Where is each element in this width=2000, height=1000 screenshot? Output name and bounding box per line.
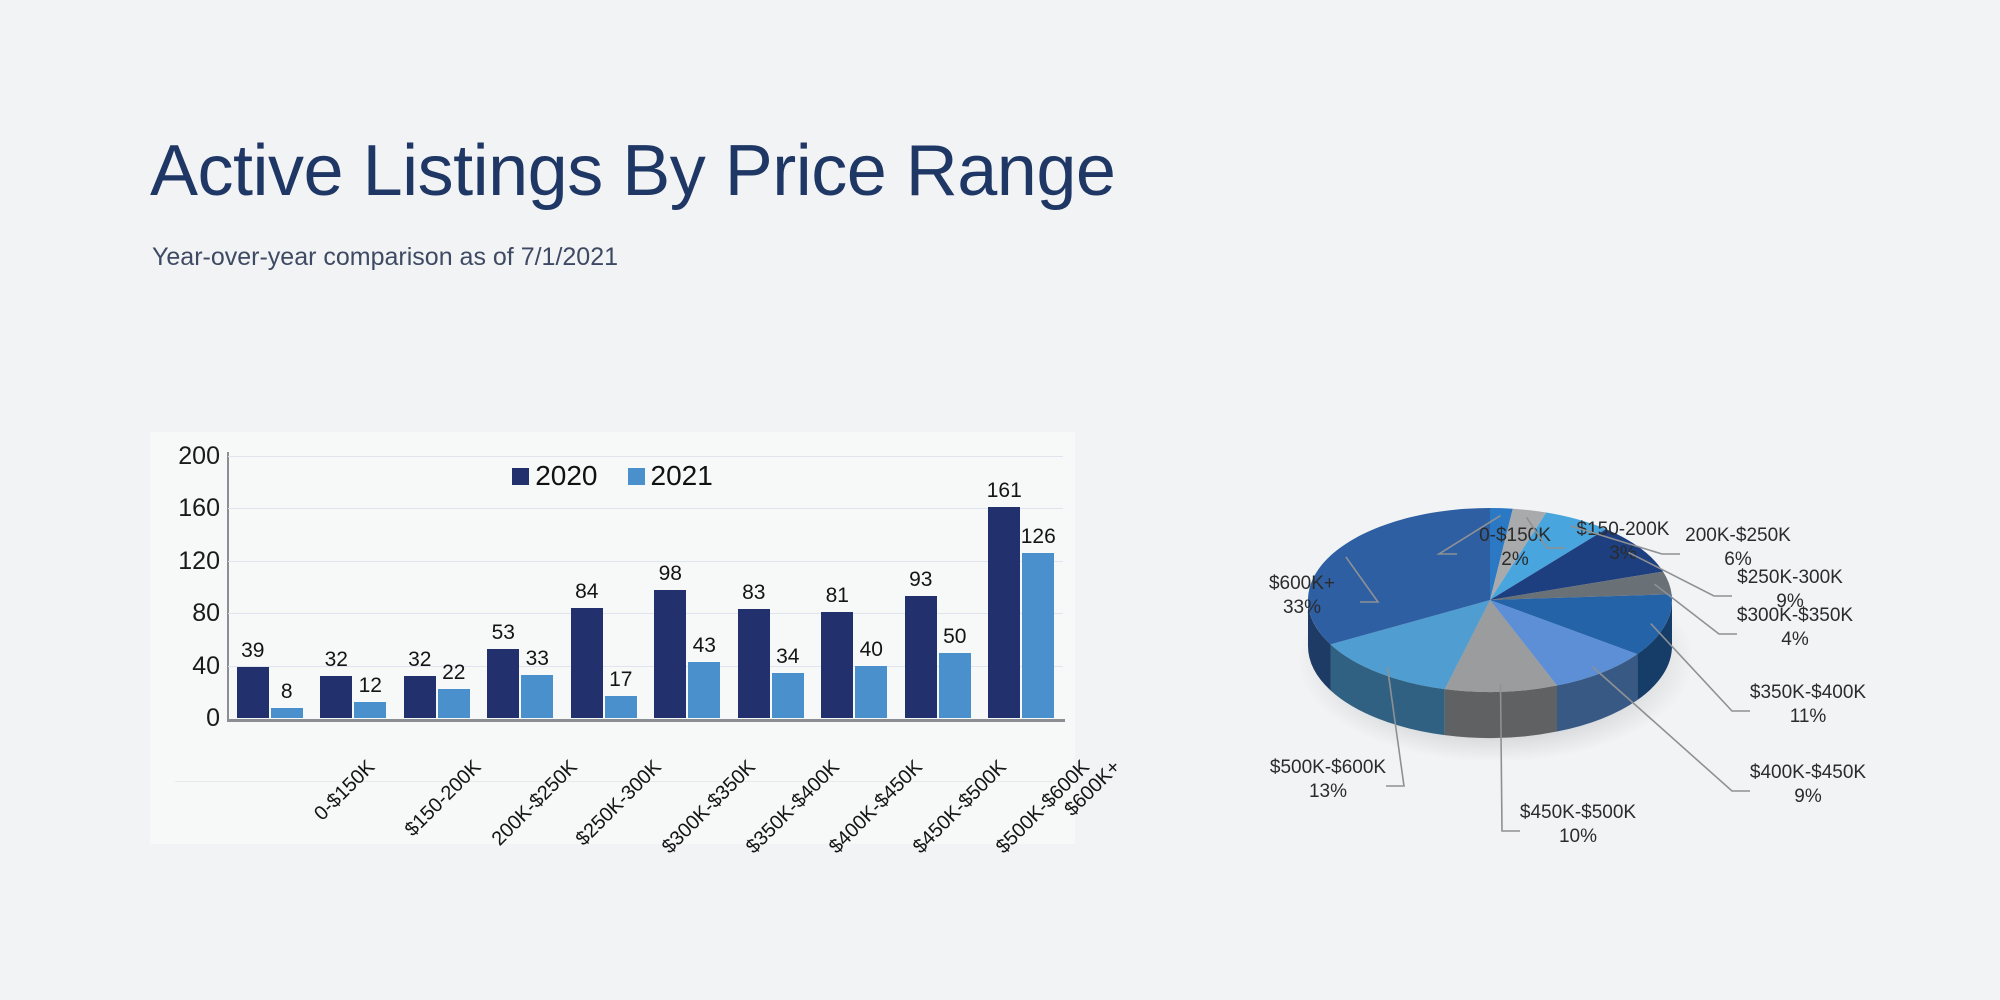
bar-2021[interactable]: 50 — [939, 653, 971, 719]
bar-value-label: 93 — [909, 568, 932, 592]
pie-label-name: 200K-$250K — [1685, 525, 1791, 546]
pie-label-name: $600K+ — [1269, 573, 1335, 594]
pie-slice-side — [1445, 686, 1557, 738]
pie-label-percent: 2% — [1479, 548, 1551, 572]
bar-value-label: 126 — [1021, 525, 1056, 549]
page-subtitle: Year-over-year comparison as of 7/1/2021 — [152, 243, 618, 272]
pie-label-percent: 3% — [1577, 542, 1670, 566]
bar-group: 398 — [228, 456, 312, 718]
pie-label-name: $500K-$600K — [1270, 757, 1386, 778]
bar-column[interactable]: 50 — [939, 456, 971, 718]
bar-column[interactable]: 81 — [821, 456, 853, 718]
bar-y-axis-ticks: 04080120160200 — [150, 456, 220, 718]
legend-item-2021[interactable]: 2021 — [628, 460, 713, 492]
legend-swatch-icon — [628, 468, 645, 485]
bar-column[interactable]: 32 — [404, 456, 436, 718]
bar-column[interactable]: 53 — [487, 456, 519, 718]
bar-plot-area: 3980-$150K3212$150-200K3222200K-$250K533… — [228, 456, 1063, 718]
bar-group: 3222 — [395, 456, 479, 718]
bar-group: 9843 — [646, 456, 730, 718]
bar-column[interactable]: 12 — [354, 456, 386, 718]
bar-2020[interactable]: 32 — [404, 676, 436, 718]
pie-label-name: $250K-300K — [1737, 567, 1843, 588]
bar-column[interactable]: 98 — [654, 456, 686, 718]
bar-2021[interactable]: 22 — [438, 689, 470, 718]
bar-value-label: 40 — [860, 638, 883, 662]
pie-label-percent: 10% — [1520, 825, 1636, 849]
pie-slice-label: 0-$150K2% — [1479, 524, 1551, 572]
bar-column[interactable]: 126 — [1022, 456, 1054, 718]
bar-2021[interactable]: 43 — [688, 662, 720, 718]
bar-2020[interactable]: 98 — [654, 590, 686, 718]
bar-chart-legend: 20202021 — [150, 460, 1075, 492]
bar-group: 8334 — [729, 456, 813, 718]
bar-column[interactable]: 22 — [438, 456, 470, 718]
legend-item-2020[interactable]: 2020 — [512, 460, 597, 492]
bar-value-label: 50 — [943, 625, 966, 649]
pie-label-name: $150-200K — [1577, 519, 1670, 540]
bar-group: 5333 — [479, 456, 563, 718]
pie-slice-label: $300K-$350K4% — [1737, 604, 1853, 652]
bar-2020[interactable]: 161 — [988, 507, 1020, 718]
bar-x-axis-line — [227, 719, 1065, 722]
pie-label-percent: 33% — [1269, 596, 1335, 620]
bar-column[interactable]: 40 — [855, 456, 887, 718]
pie-label-percent: 9% — [1750, 785, 1866, 809]
bar-value-label: 32 — [408, 648, 431, 672]
bar-value-label: 12 — [359, 674, 382, 698]
bar-y-tick: 0 — [160, 704, 220, 733]
pie-label-name: $400K-$450K — [1750, 762, 1866, 783]
bar-group: 8140 — [813, 456, 897, 718]
pie-label-name: $450K-$500K — [1520, 802, 1636, 823]
bar-value-label: 22 — [442, 661, 465, 685]
bar-y-tick: 160 — [160, 494, 220, 523]
pie-label-percent: 13% — [1270, 780, 1386, 804]
bar-column[interactable]: 161 — [988, 456, 1020, 718]
pie-slice-label: $600K+33% — [1269, 572, 1335, 620]
pie-slice-label: $350K-$400K11% — [1750, 681, 1866, 729]
legend-swatch-icon — [512, 468, 529, 485]
bar-column[interactable]: 43 — [688, 456, 720, 718]
bar-2021[interactable]: 17 — [605, 696, 637, 718]
bar-value-label: 83 — [742, 581, 765, 605]
bar-2020[interactable]: 81 — [821, 612, 853, 718]
bar-column[interactable]: 32 — [320, 456, 352, 718]
pie-slice-label: 200K-$250K6% — [1685, 524, 1791, 572]
bar-column[interactable]: 33 — [521, 456, 553, 718]
bar-y-tick: 120 — [160, 547, 220, 576]
bar-value-label: 84 — [575, 580, 598, 604]
legend-label: 2020 — [535, 460, 597, 492]
bar-value-label: 98 — [659, 562, 682, 586]
bar-2020[interactable]: 83 — [738, 609, 770, 718]
bar-2020[interactable]: 93 — [905, 596, 937, 718]
bar-column[interactable]: 84 — [571, 456, 603, 718]
bar-value-label: 33 — [526, 647, 549, 671]
bar-column[interactable]: 8 — [271, 456, 303, 718]
bar-value-label: 17 — [609, 668, 632, 692]
bar-chart: 04080120160200 3980-$150K3212$150-200K32… — [150, 432, 1075, 844]
bar-group: 161126 — [980, 456, 1064, 718]
pie-label-percent: 11% — [1750, 705, 1866, 729]
bar-2020[interactable]: 32 — [320, 676, 352, 718]
bar-group: 9350 — [896, 456, 980, 718]
bar-2021[interactable]: 12 — [354, 702, 386, 718]
pie-chart: 0-$150K2%$150-200K3%200K-$250K6%$250K-30… — [1100, 420, 1980, 840]
bar-column[interactable]: 34 — [772, 456, 804, 718]
bar-value-label: 39 — [241, 639, 264, 663]
legend-label: 2021 — [651, 460, 713, 492]
bar-value-label: 53 — [492, 621, 515, 645]
bar-2021[interactable]: 126 — [1022, 553, 1054, 718]
pie-slice-label: $500K-$600K13% — [1270, 756, 1386, 804]
pie-slice-label: $400K-$450K9% — [1750, 761, 1866, 809]
bar-group: 3212 — [312, 456, 396, 718]
pie-slice-label: $150-200K3% — [1577, 518, 1670, 566]
bar-value-label: 34 — [776, 645, 799, 669]
bar-value-label: 32 — [325, 648, 348, 672]
bar-value-label: 81 — [826, 584, 849, 608]
pie-label-name: $300K-$350K — [1737, 605, 1853, 626]
pie-label-name: 0-$150K — [1479, 525, 1551, 546]
bar-column[interactable]: 39 — [237, 456, 269, 718]
bar-y-tick: 40 — [160, 652, 220, 681]
bar-column[interactable]: 83 — [738, 456, 770, 718]
bar-value-label: 8 — [281, 680, 293, 704]
bar-2020[interactable]: 84 — [571, 608, 603, 718]
bar-2021[interactable]: 40 — [855, 666, 887, 718]
bar-2021[interactable]: 33 — [521, 675, 553, 718]
page-title: Active Listings By Price Range — [150, 132, 1115, 210]
bar-2020[interactable]: 39 — [237, 667, 269, 718]
pie-label-name: $350K-$400K — [1750, 682, 1866, 703]
bar-value-label: 43 — [693, 634, 716, 658]
bar-y-tick: 80 — [160, 599, 220, 628]
bar-group: 8417 — [562, 456, 646, 718]
pie-slice-label: $450K-$500K10% — [1520, 801, 1636, 849]
bar-column[interactable]: 93 — [905, 456, 937, 718]
bar-2020[interactable]: 53 — [487, 649, 519, 718]
bar-column[interactable]: 17 — [605, 456, 637, 718]
pie-label-percent: 4% — [1737, 628, 1853, 652]
pie-3d-stage: 0-$150K2%$150-200K3%200K-$250K6%$250K-30… — [1100, 420, 1980, 840]
bar-2021[interactable]: 34 — [772, 673, 804, 718]
bar-2021[interactable]: 8 — [271, 708, 303, 718]
